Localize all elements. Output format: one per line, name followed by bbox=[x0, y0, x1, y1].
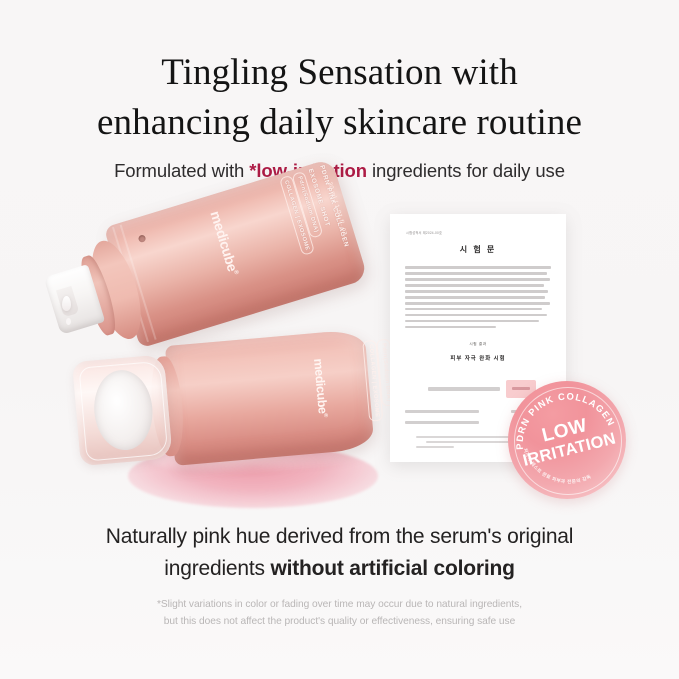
certificate-result-key bbox=[428, 387, 500, 391]
disclaimer-line-1: *Slight variations in color or fading ov… bbox=[0, 597, 679, 614]
bottom-copy-block: Naturally pink hue derived from the seru… bbox=[0, 521, 679, 585]
bottle-upper-label: PDRN PINK COLLAGEN EXOSOME SHOT Pdrn(Sod… bbox=[222, 164, 362, 309]
certificate-meta: 시험성적서 제2024-00호 bbox=[406, 230, 442, 235]
bottle-lower-brand-mark: ® bbox=[322, 413, 328, 417]
product-marketing-image: Tingling Sensation with enhancing daily … bbox=[0, 0, 679, 679]
bottom-copy-line-2-normal: ingredients bbox=[164, 557, 270, 580]
headline-line-1: Tingling Sensation with bbox=[30, 48, 649, 98]
certificate-subtitle-2: 피부 자극 완화 시험 bbox=[390, 354, 566, 362]
disclaimer-line-2: but this does not affect the product's q… bbox=[0, 614, 679, 631]
serum-droplet-small bbox=[66, 318, 71, 325]
bottle-upper-brand-mark: ® bbox=[232, 269, 239, 275]
low-irritation-badge: PDRN PINK COLLAGEN 저자극 테스트 완료 피부과 전문의 감독… bbox=[508, 381, 626, 499]
serum-droplet bbox=[62, 296, 71, 311]
bottom-copy-line-2-bold: without artificial coloring bbox=[270, 557, 514, 580]
page-title: Tingling Sensation with enhancing daily … bbox=[0, 48, 679, 148]
bottom-copy-line-1: Naturally pink hue derived from the seru… bbox=[0, 521, 679, 553]
subheadline-before: Formulated with bbox=[114, 160, 249, 181]
disclaimer-block: *Slight variations in color or fading ov… bbox=[0, 597, 679, 630]
certificate-title: 시 험 문 bbox=[390, 244, 566, 255]
headline-block: Tingling Sensation with enhancing daily … bbox=[0, 48, 679, 182]
bottle-upper-body: PDRN PINK COLLAGEN EXOSOME SHOT Pdrn(Sod… bbox=[104, 158, 368, 348]
bottom-copy-line-2: ingredients without artificial coloring bbox=[0, 553, 679, 585]
subheadline: Formulated with *low-irritation ingredie… bbox=[0, 160, 679, 182]
product-photo-stage: PDRN PINK COLLAGEN EXOSOME SHOT Pdrn(Sod… bbox=[0, 186, 679, 516]
certificate-paragraph bbox=[405, 266, 551, 332]
subheadline-after: ingredients for daily use bbox=[367, 160, 565, 181]
headline-line-2: enhancing daily skincare routine bbox=[30, 98, 649, 148]
certificate-subtitle: 시험 결과 bbox=[390, 342, 566, 347]
